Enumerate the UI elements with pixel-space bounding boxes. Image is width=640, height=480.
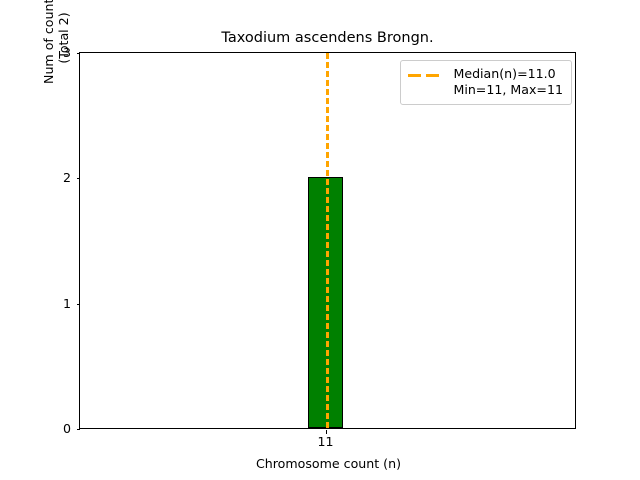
matplotlib-figure: Taxodium ascendens Brongn. Num of counts… — [0, 0, 640, 480]
y-tick-mark-0 — [77, 429, 81, 430]
y-tick-mark-1 — [77, 304, 81, 305]
x-tick-label-11: 11 — [296, 436, 356, 448]
legend-label-group: Median(n)=11.0 Min=11, Max=11 — [453, 66, 563, 98]
median-line — [326, 53, 329, 428]
y-axis-label: Num of counts (Total 2) — [41, 0, 71, 168]
y-tick-mark-2 — [77, 178, 81, 179]
y-tick-label-3: 3 — [49, 47, 71, 59]
y-tick-mark-3 — [77, 53, 81, 54]
y-tick-label-1: 1 — [49, 298, 71, 310]
y-tick-label-2: 2 — [49, 172, 71, 184]
y-tick-label-0: 0 — [49, 423, 71, 435]
x-axis-label: Chromosome count (n) — [80, 457, 577, 471]
legend-entry-median: Median(n)=11.0 Min=11, Max=11 — [408, 66, 563, 98]
page-title: Taxodium ascendens Brongn. — [79, 30, 576, 46]
legend-label-median: Median(n)=11.0 — [453, 66, 555, 81]
plot-area: Num of counts (Total 2) 3 2 1 0 11 Chrom… — [79, 52, 576, 429]
x-tick-mark-11 — [326, 430, 327, 434]
legend-label-minmax: Min=11, Max=11 — [453, 82, 563, 98]
legend[interactable]: Median(n)=11.0 Min=11, Max=11 — [400, 60, 572, 105]
dashed-line-icon — [408, 68, 444, 84]
